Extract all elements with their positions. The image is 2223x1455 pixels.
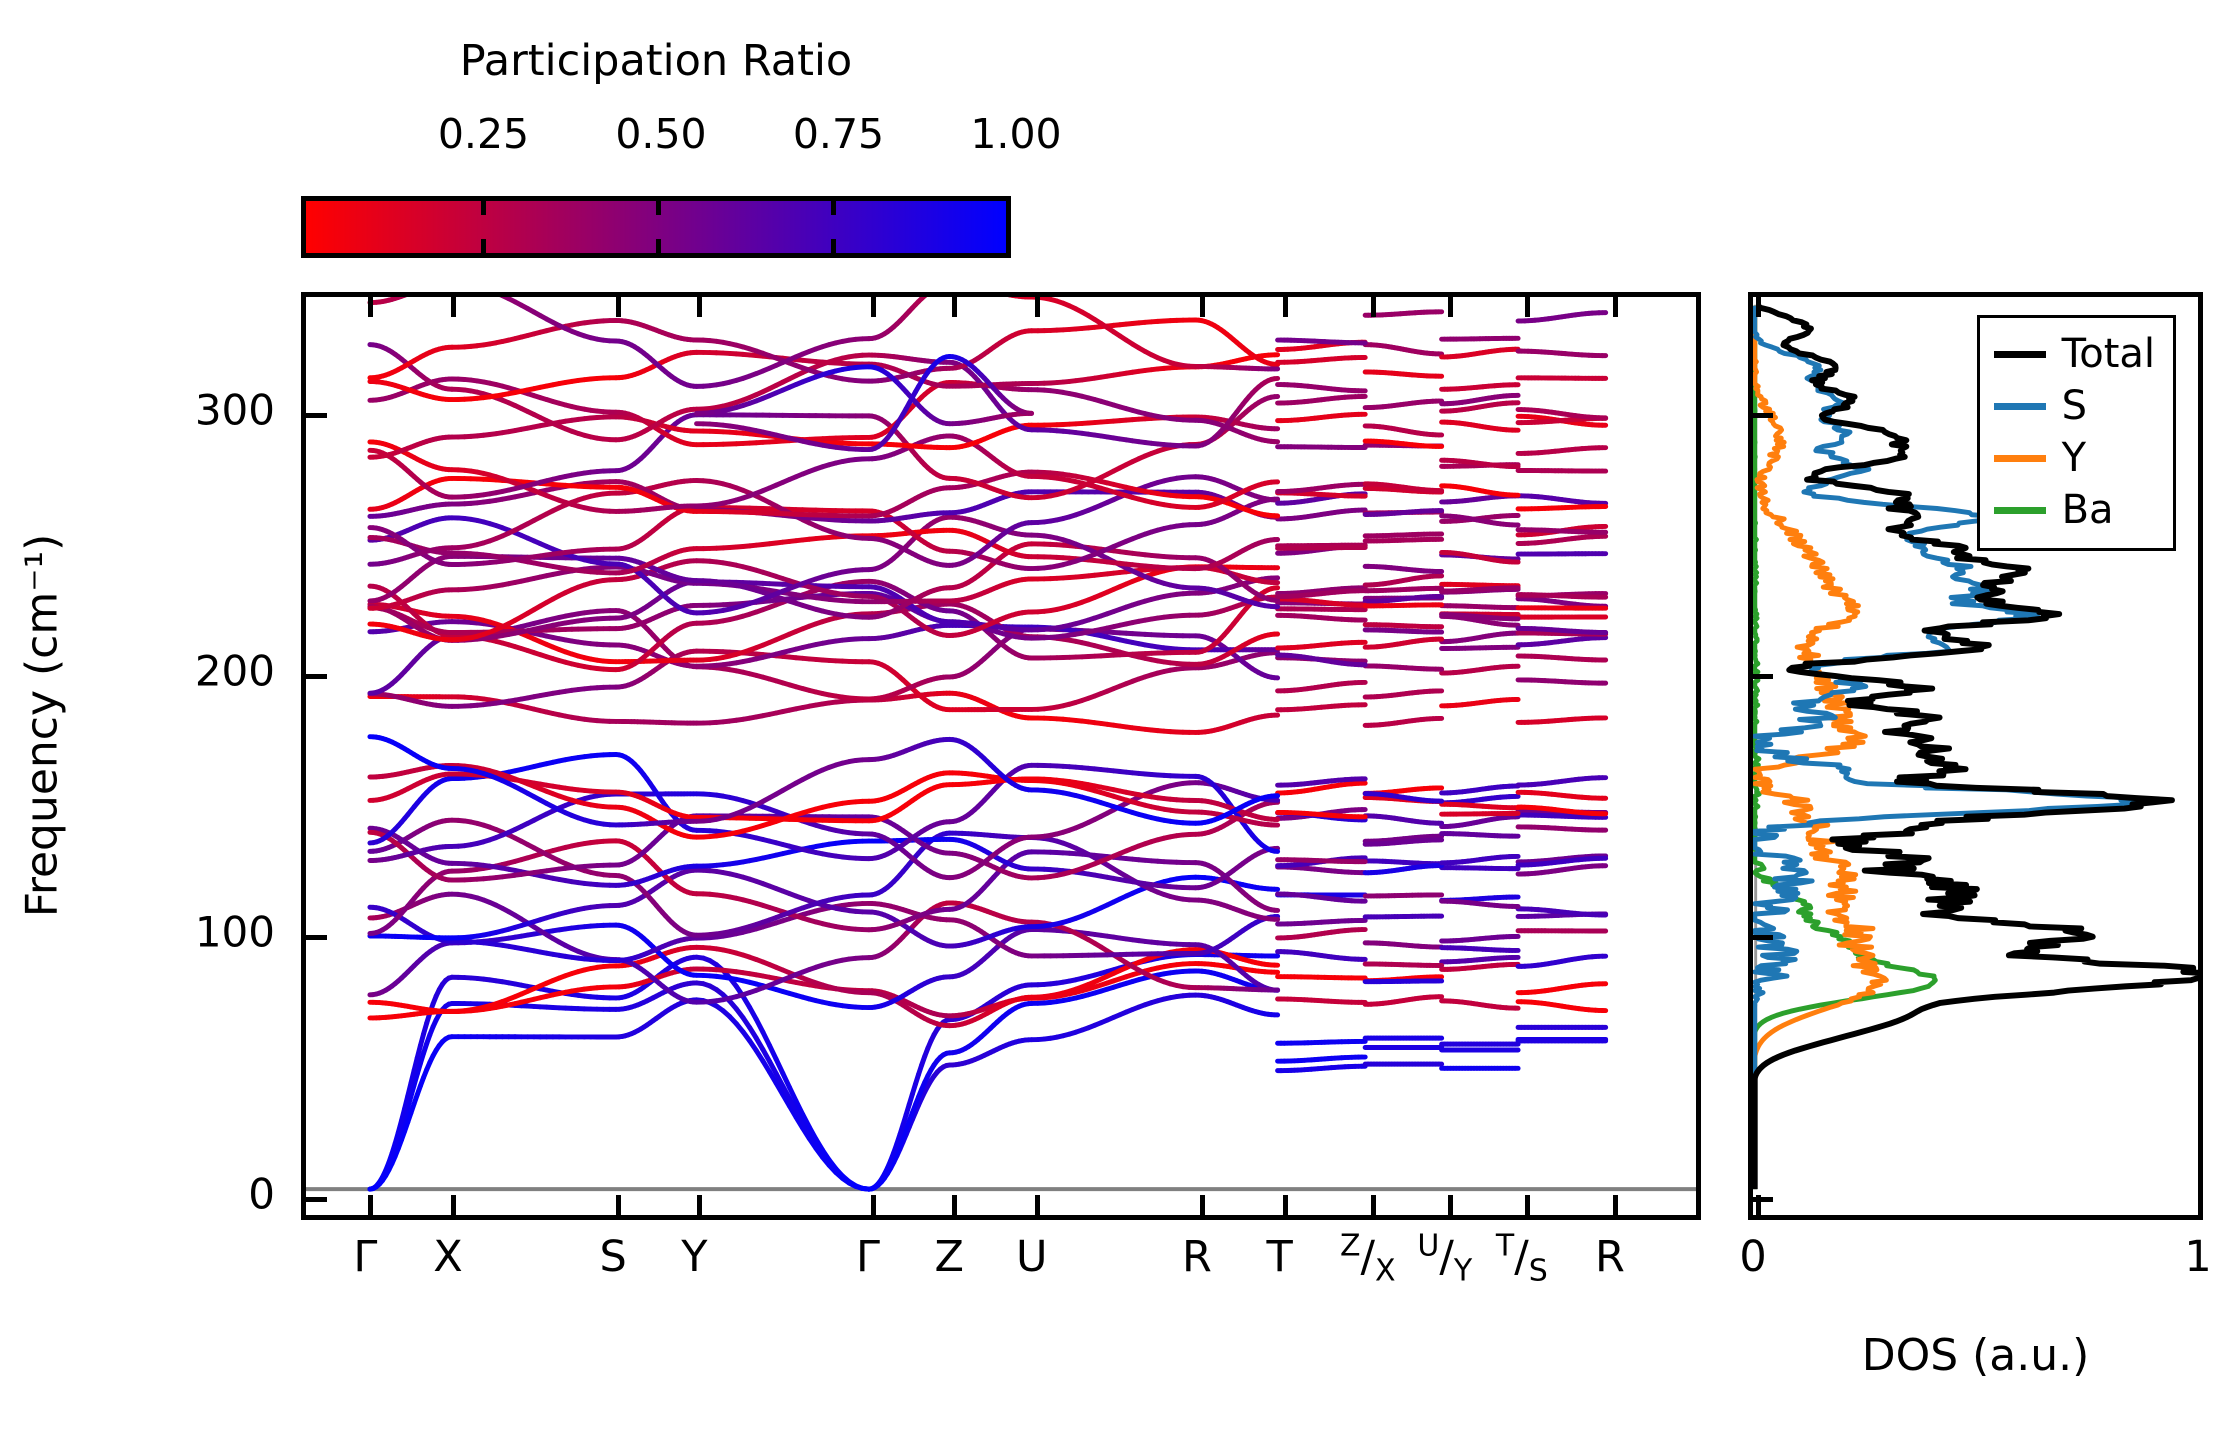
- band-y-tick-label: 0: [248, 1169, 275, 1218]
- colorbar-tick-label: 0.50: [615, 110, 706, 158]
- colorbar-tick-mark: [481, 201, 486, 215]
- colorbar-tick-mark: [831, 239, 836, 253]
- colorbar-tick-label: 1.00: [970, 110, 1061, 158]
- colorbar-tick-label: 0.75: [793, 110, 884, 158]
- band-y-tick-label: 300: [195, 385, 275, 434]
- colorbar-tick-mark: [656, 239, 661, 253]
- colorbar-tick-mark: [481, 239, 486, 253]
- band-structure-plot: [306, 297, 1696, 1215]
- participation-ratio-colorbar: [301, 196, 1011, 258]
- y-axis-title: Frequency (cm⁻¹): [17, 326, 68, 1126]
- band-y-tick-labels: 0100200300: [120, 292, 275, 1220]
- colorbar-tick-mark: [656, 201, 661, 215]
- colorbar-tick-label: 0.25: [438, 110, 529, 158]
- colorbar-tick-labels: 0.250.500.751.00: [306, 110, 1006, 160]
- band-y-tick-label: 100: [195, 908, 275, 957]
- colorbar-title: Participation Ratio: [306, 36, 1006, 86]
- band-y-tick-label: 200: [195, 647, 275, 696]
- colorbar-tick-mark: [831, 201, 836, 215]
- figure-root: Participation Ratio 0.250.500.751.00 Fre…: [0, 0, 2223, 1455]
- phonon-band-structure-panel: [301, 292, 1701, 1220]
